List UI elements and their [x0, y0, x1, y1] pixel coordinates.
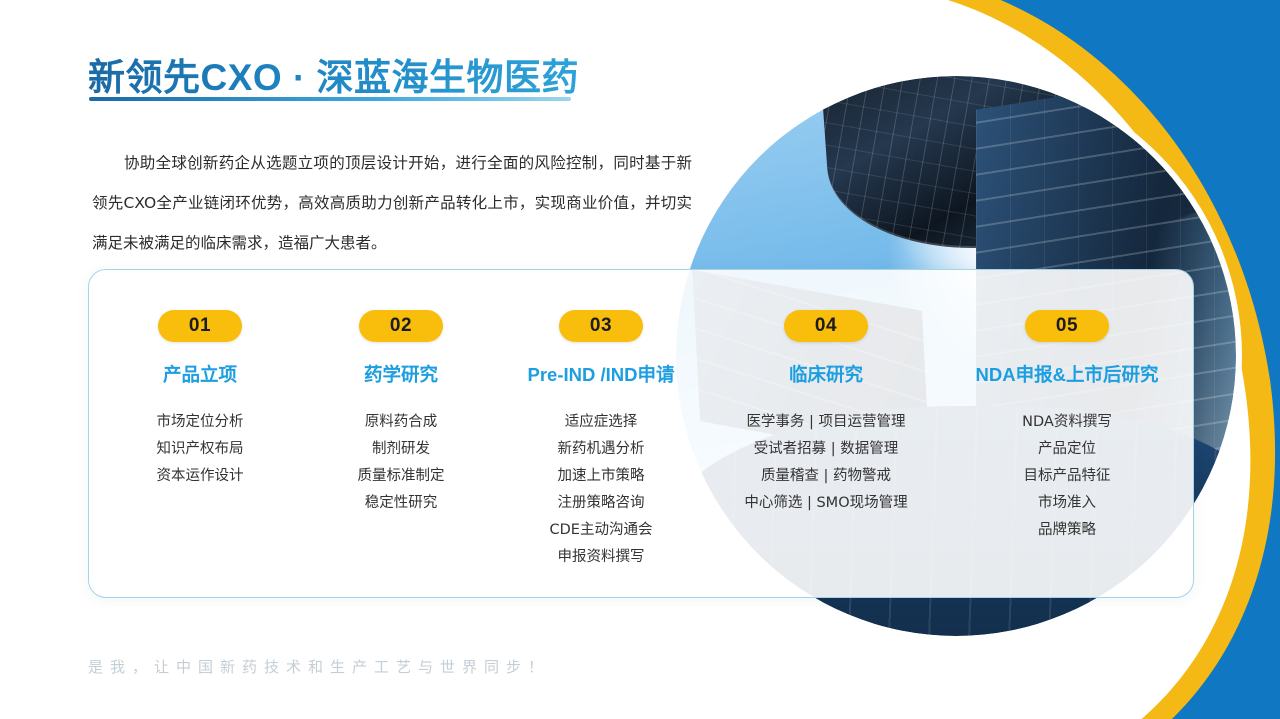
process-step-04[interactable]: 04 临床研究 医学事务 | 项目运营管理 受试者招募 | 数据管理 质量稽查 … [711, 270, 941, 597]
list-item: CDE主动沟通会 [550, 517, 653, 544]
list-item: 市场定位分析 [157, 409, 244, 436]
list-item: 资本运作设计 [157, 463, 244, 490]
process-step-02[interactable]: 02 药学研究 原料药合成 制剂研发 质量标准制定 稳定性研究 [311, 270, 491, 597]
footer-slogan: 是我，让中国新药技术和生产工艺与世界同步！ [88, 656, 550, 677]
step-items-01: 市场定位分析 知识产权布局 资本运作设计 [157, 409, 244, 490]
list-item: 质量稽查 | 药物警戒 [744, 463, 907, 490]
process-step-03[interactable]: 03 Pre-IND /IND申请 适应症选择 新药机遇分析 加速上市策略 注册… [491, 270, 711, 597]
list-item: 制剂研发 [358, 436, 445, 463]
step-badge-04: 04 [784, 310, 868, 342]
list-item: 知识产权布局 [157, 436, 244, 463]
step-items-05: NDA资料撰写 产品定位 目标产品特征 市场准入 品牌策略 [1022, 409, 1112, 544]
list-item: 目标产品特征 [1022, 463, 1112, 490]
process-step-05[interactable]: 05 NDA申报&上市后研究 NDA资料撰写 产品定位 目标产品特征 市场准入 … [941, 270, 1193, 597]
step-badge-05: 05 [1025, 310, 1109, 342]
process-card: 01 产品立项 市场定位分析 知识产权布局 资本运作设计 02 药学研究 原料药… [88, 269, 1194, 598]
list-item: 申报资料撰写 [550, 544, 653, 571]
step-badge-03: 03 [559, 310, 643, 342]
list-item: 新药机遇分析 [550, 436, 653, 463]
list-item: 产品定位 [1022, 436, 1112, 463]
step-title-04: 临床研究 [789, 361, 863, 387]
slide-root: 新领先CXO · 深蓝海生物医药 协助全球创新药企从选题立项的顶层设计开始，进行… [0, 0, 1280, 719]
list-item: 中心筛选 | SMO现场管理 [744, 490, 907, 517]
list-item: NDA资料撰写 [1022, 409, 1112, 436]
step-title-05: NDA申报&上市后研究 [976, 361, 1159, 387]
list-item: 医学事务 | 项目运营管理 [744, 409, 907, 436]
building-top-glass-roof [820, 76, 1236, 258]
list-item: 质量标准制定 [358, 463, 445, 490]
list-item: 原料药合成 [358, 409, 445, 436]
step-items-02: 原料药合成 制剂研发 质量标准制定 稳定性研究 [358, 409, 445, 517]
title-underline [89, 97, 571, 101]
step-items-04: 医学事务 | 项目运营管理 受试者招募 | 数据管理 质量稽查 | 药物警戒 中… [744, 409, 907, 517]
list-item: 加速上市策略 [550, 463, 653, 490]
list-item: 市场准入 [1022, 490, 1112, 517]
page-title: 新领先CXO · 深蓝海生物医药 [88, 47, 579, 101]
list-item: 稳定性研究 [358, 490, 445, 517]
step-items-03: 适应症选择 新药机遇分析 加速上市策略 注册策略咨询 CDE主动沟通会 申报资料… [550, 409, 653, 571]
list-item: 品牌策略 [1022, 517, 1112, 544]
intro-paragraph: 协助全球创新药企从选题立项的顶层设计开始，进行全面的风险控制，同时基于新领先CX… [92, 143, 692, 263]
step-title-02: 药学研究 [364, 361, 438, 387]
list-item: 受试者招募 | 数据管理 [744, 436, 907, 463]
step-badge-01: 01 [158, 310, 242, 342]
process-columns: 01 产品立项 市场定位分析 知识产权布局 资本运作设计 02 药学研究 原料药… [89, 270, 1193, 597]
process-step-01[interactable]: 01 产品立项 市场定位分析 知识产权布局 资本运作设计 [89, 270, 311, 597]
list-item: 适应症选择 [550, 409, 653, 436]
step-title-03: Pre-IND /IND申请 [528, 361, 675, 387]
list-item: 注册策略咨询 [550, 490, 653, 517]
step-title-01: 产品立项 [163, 361, 237, 387]
step-badge-02: 02 [359, 310, 443, 342]
